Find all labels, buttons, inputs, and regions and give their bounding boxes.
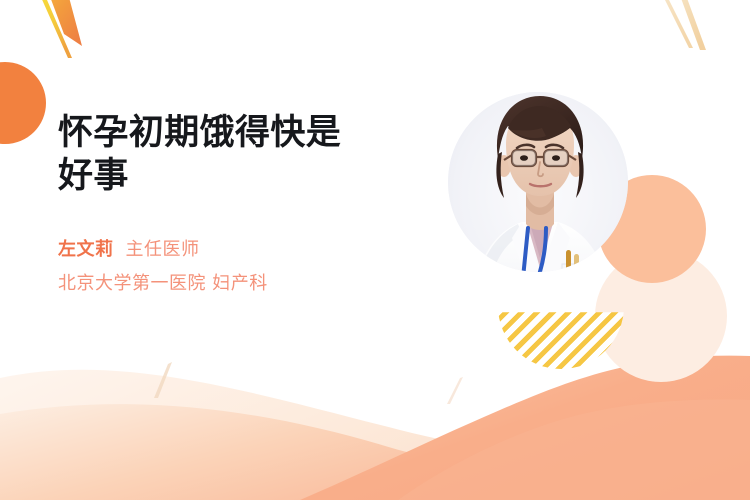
doctor-portrait-illustration — [442, 88, 638, 324]
doctor-name-row: 左文莉 主任医师 — [58, 235, 418, 261]
orange-circle-decoration — [0, 62, 46, 144]
ribbon-thin — [36, 0, 72, 58]
doctor-name: 左文莉 — [58, 235, 114, 261]
thin-line-a — [660, 0, 693, 48]
doctor-meta: 左文莉 主任医师 北京大学第一医院 妇产科 — [58, 235, 418, 295]
photo-circle-background — [448, 92, 628, 272]
wave-middle — [0, 404, 750, 500]
page-title: 怀孕初期饿得快是 好事 — [58, 112, 398, 197]
thin-line-b — [678, 0, 706, 50]
wave-back — [0, 370, 750, 500]
doctor-affiliation: 北京大学第一医院 妇产科 — [58, 269, 418, 295]
thin-line-d — [447, 377, 463, 404]
text-content: 怀孕初期饿得快是 好事 左文莉 主任医师 北京大学第一医院 妇产科 — [58, 112, 418, 295]
doctor-photo — [448, 92, 628, 312]
thin-line-c — [154, 362, 172, 398]
ribbon-thick — [46, 0, 82, 46]
wave-front — [300, 356, 750, 500]
doctor-rank: 主任医师 — [126, 235, 200, 261]
doctor-promo-card: 怀孕初期饿得快是 好事 左文莉 主任医师 北京大学第一医院 妇产科 — [0, 0, 750, 500]
wave-front-highlight — [398, 400, 750, 500]
